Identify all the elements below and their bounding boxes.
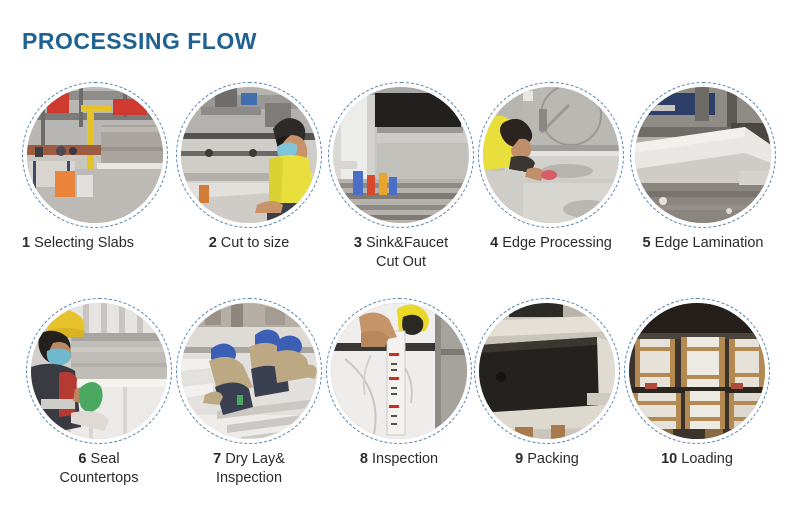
flow-step-6[interactable]: 6 Seal Countertops — [26, 298, 172, 444]
flow-step-4[interactable]: 4 Edge Processing — [478, 82, 624, 228]
flow-step-3-label: Sink&Faucet — [366, 235, 448, 251]
flow-step-10-ring — [624, 298, 770, 444]
flow-step-7-caption: 7 Dry Lay& Inspection — [164, 450, 334, 488]
flow-step-3-number: 3 — [354, 235, 362, 251]
flow-step-1-label: Selecting Slabs — [34, 235, 134, 251]
flow-step-7[interactable]: 7 Dry Lay& Inspection — [176, 298, 322, 444]
flow-step-5[interactable]: 5 Edge Lamination — [630, 82, 776, 228]
flow-step-4-number: 4 — [490, 235, 498, 251]
flow-step-5-circle[interactable] — [630, 82, 776, 228]
flow-step-2-caption: 2 Cut to size — [164, 234, 334, 253]
flow-step-6-number: 6 — [78, 451, 86, 467]
flow-step-8[interactable]: 8 Inspection — [326, 298, 472, 444]
flow-step-1-ring — [22, 82, 168, 228]
flow-step-9[interactable]: 9 Packing — [474, 298, 620, 444]
flow-step-8-number: 8 — [360, 451, 368, 467]
flow-step-3-ring — [328, 82, 474, 228]
flow-step-6-circle[interactable] — [26, 298, 172, 444]
flow-step-6-label-line2: Countertops — [14, 469, 184, 488]
flow-step-9-ring — [474, 298, 620, 444]
flow-step-5-ring — [630, 82, 776, 228]
flow-step-8-label: Inspection — [372, 451, 438, 467]
flow-step-7-label-line2: Inspection — [164, 469, 334, 488]
flow-step-2-circle[interactable] — [176, 82, 322, 228]
flow-step-3-circle[interactable] — [328, 82, 474, 228]
flow-step-8-ring — [326, 298, 472, 444]
flow-step-2-number: 2 — [209, 235, 217, 251]
flow-step-5-caption: 5 Edge Lamination — [618, 234, 788, 253]
flow-step-4-circle[interactable] — [478, 82, 624, 228]
flow-step-8-circle[interactable] — [326, 298, 472, 444]
flow-step-6-caption: 6 Seal Countertops — [14, 450, 184, 488]
flow-step-10-circle[interactable] — [624, 298, 770, 444]
flow-step-5-number: 5 — [643, 235, 651, 251]
flow-step-7-number: 7 — [213, 451, 221, 467]
flow-step-2[interactable]: 2 Cut to size — [176, 82, 322, 228]
flow-step-1[interactable]: 1 Selecting Slabs — [22, 82, 168, 228]
flow-step-9-circle[interactable] — [474, 298, 620, 444]
flow-step-10-caption: 10 Loading — [612, 450, 782, 469]
page-title: PROCESSING FLOW — [22, 28, 257, 55]
flow-step-2-label: Cut to size — [221, 235, 290, 251]
flow-step-10[interactable]: 10 Loading — [624, 298, 770, 444]
flow-step-2-ring — [176, 82, 322, 228]
flow-step-7-circle[interactable] — [176, 298, 322, 444]
flow-step-9-label: Packing — [527, 451, 579, 467]
flow-step-3-label-line2: Cut Out — [316, 253, 486, 272]
flow-step-4-ring — [478, 82, 624, 228]
flow-step-1-circle[interactable] — [22, 82, 168, 228]
flow-step-1-number: 1 — [22, 235, 30, 251]
flow-step-9-number: 9 — [515, 451, 523, 467]
flow-step-10-number: 10 — [661, 451, 677, 467]
flow-step-6-label: Seal — [91, 451, 120, 467]
flow-step-3[interactable]: 3 Sink&Faucet Cut Out — [328, 82, 474, 228]
flow-step-5-label: Edge Lamination — [655, 235, 764, 251]
flow-step-3-caption: 3 Sink&Faucet Cut Out — [316, 234, 486, 272]
flow-step-9-caption: 9 Packing — [462, 450, 632, 469]
processing-flow-page: PROCESSING FLOW — [0, 0, 790, 520]
flow-step-8-caption: 8 Inspection — [314, 450, 484, 469]
flow-step-4-caption: 4 Edge Processing — [466, 234, 636, 253]
flow-step-4-label: Edge Processing — [502, 235, 612, 251]
flow-step-6-ring — [26, 298, 172, 444]
flow-step-7-label: Dry Lay& — [225, 451, 285, 467]
flow-step-7-ring — [176, 298, 322, 444]
flow-step-10-label: Loading — [681, 451, 733, 467]
